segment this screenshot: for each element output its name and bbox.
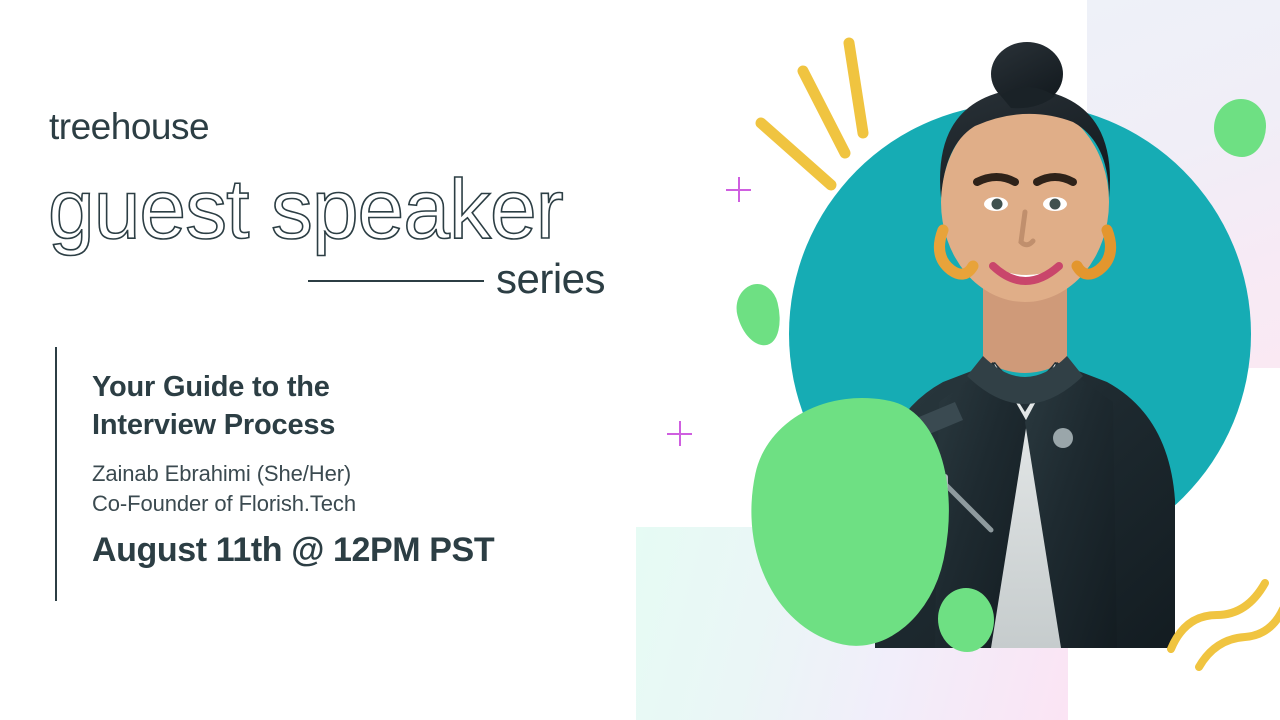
- detail-vertical-rule: [55, 347, 57, 601]
- svg-text:guest speaker: guest speaker: [48, 162, 563, 256]
- green-blob-icon: [938, 588, 994, 652]
- talk-title-line-1: Your Guide to the: [92, 368, 632, 406]
- plus-mark-icon: [667, 421, 692, 446]
- brand-wordmark: treehouse: [49, 108, 209, 145]
- plus-mark-icon: [726, 177, 751, 202]
- series-label: series: [496, 258, 605, 300]
- speaker-role: Co-Founder of Florish.Tech: [92, 489, 632, 519]
- event-datetime: August 11th @ 12PM PST: [92, 532, 632, 569]
- headline-guest-speaker: guest speaker: [40, 158, 660, 263]
- slide-canvas: treehouse guest speaker series Your Guid…: [0, 0, 1280, 720]
- speaker-info: Zainab Ebrahimi (She/Her) Co-Founder of …: [92, 459, 632, 520]
- green-blob-icon: [731, 280, 787, 350]
- series-divider: [308, 280, 484, 282]
- yellow-squiggle-icon: [1165, 575, 1280, 685]
- talk-title: Your Guide to the Interview Process: [92, 368, 632, 445]
- event-details: Your Guide to the Interview Process Zain…: [92, 368, 632, 570]
- talk-title-line-2: Interview Process: [92, 406, 632, 444]
- speaker-name: Zainab Ebrahimi (She/Her): [92, 459, 632, 489]
